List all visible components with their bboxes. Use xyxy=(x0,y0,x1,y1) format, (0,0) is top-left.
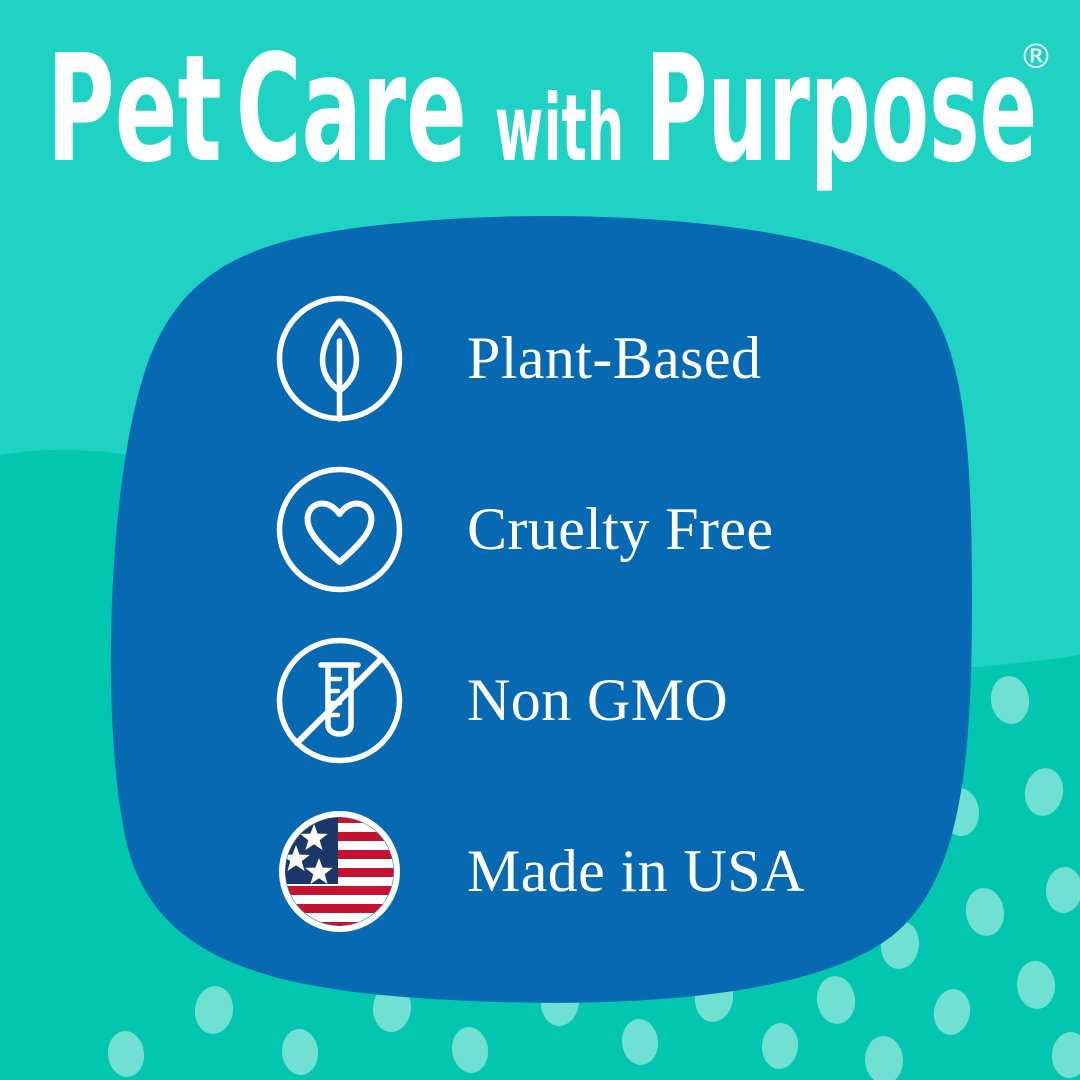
feature-label-plant-based: Plant-Based xyxy=(467,328,761,388)
no-test-tube-icon xyxy=(272,633,407,768)
poster-canvas: Pet Care with Purpose ® Plant-Based xyxy=(0,0,1080,1080)
feature-label-cruelty-free: Cruelty Free xyxy=(467,499,773,559)
headline-word-pet: Pet xyxy=(47,23,222,196)
leaf-in-circle-icon xyxy=(272,291,407,426)
feature-list: Plant-Based Cruelty Free xyxy=(272,286,912,943)
feature-row-non-gmo: Non GMO xyxy=(272,628,912,772)
headline-text: Pet Care with Purpose ® xyxy=(44,26,1044,196)
trademark-icon: ® xyxy=(1019,37,1053,77)
headline-word-care: Care xyxy=(236,23,467,196)
feature-row-made-in-usa: Made in USA xyxy=(272,799,912,943)
headline: Pet Care with Purpose ® xyxy=(44,26,1044,196)
feature-row-plant-based: Plant-Based xyxy=(272,286,912,430)
feature-label-non-gmo: Non GMO xyxy=(467,670,728,730)
heart-in-circle-icon xyxy=(272,462,407,597)
headline-word-purpose: Purpose xyxy=(645,23,1037,196)
headline-word-with: with xyxy=(495,74,625,182)
feature-row-cruelty-free: Cruelty Free xyxy=(272,457,912,601)
usa-flag-circle-icon xyxy=(272,804,407,939)
feature-label-made-in-usa: Made in USA xyxy=(467,841,805,901)
